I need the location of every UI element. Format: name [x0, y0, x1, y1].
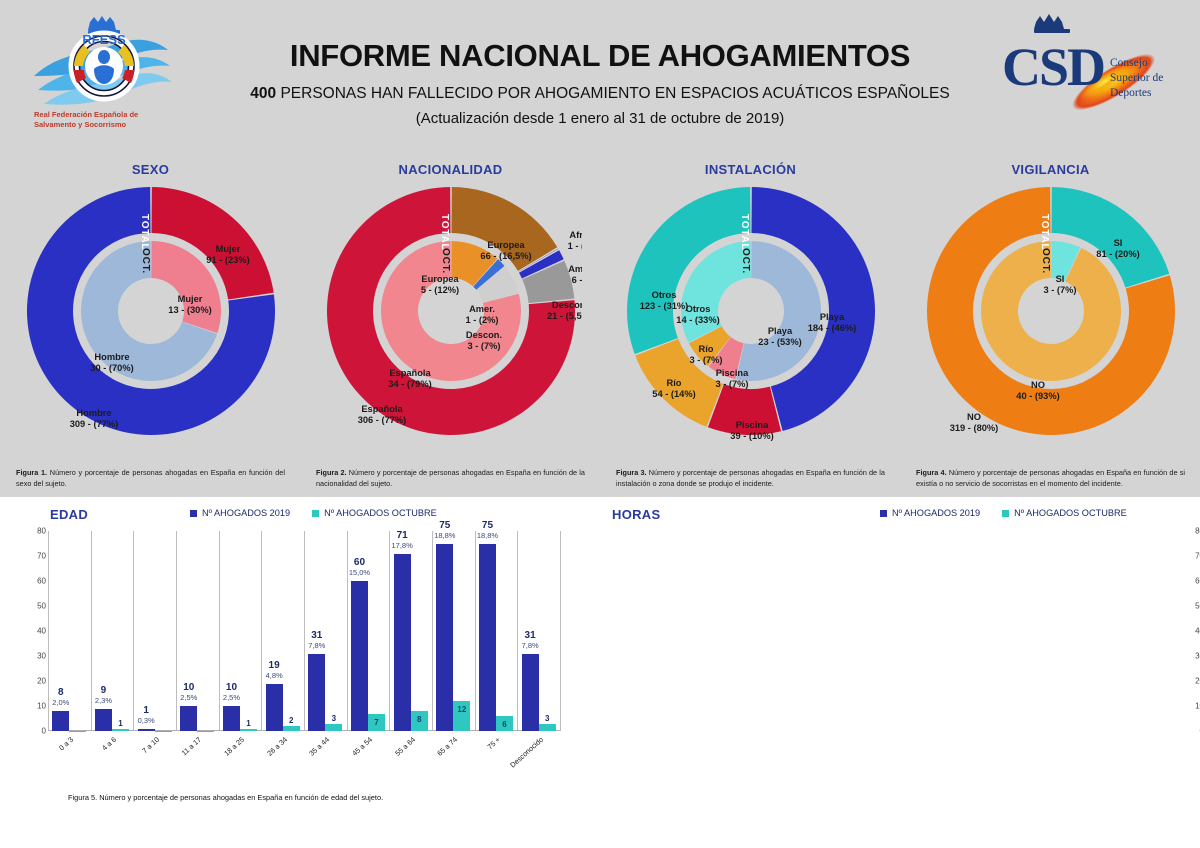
bar-charts-band: EDAD Nº AHOGADOS 2019 Nº AHOGADOS OCTUBR… — [0, 497, 1200, 848]
y-axis-tick: 40 — [37, 627, 46, 636]
bar-group: 10,3%7 a 10 — [133, 531, 176, 731]
x-axis-label: 65 a 74 — [436, 735, 460, 758]
bar-value-percent: 4,8% — [266, 671, 283, 681]
y-axis-tick: 0 — [42, 727, 46, 736]
x-axis-label: 55 a 64 — [393, 735, 417, 758]
donut-slice-label-outer: Española306 - (77%) — [357, 404, 406, 425]
bar-octubre — [539, 724, 556, 732]
figure-caption: Figura 1. Número y porcentaje de persona… — [16, 468, 285, 489]
bar-octubre-label: 3 — [332, 714, 336, 723]
figure-caption-text: Número y porcentaje de personas ahogadas… — [16, 468, 285, 488]
bar-value-label: 6015,0% — [349, 558, 370, 578]
bar-value-label: 82,0% — [52, 688, 69, 708]
y-axis-tick: 10 — [37, 702, 46, 711]
subtitle-count: 400 — [250, 85, 276, 102]
x-axis-label: 26 a 34 — [265, 735, 289, 758]
gridline — [560, 531, 561, 731]
chart-title-edad: EDAD — [50, 507, 88, 522]
bar-octubre-label: 1 — [246, 719, 250, 728]
x-axis-label: 11 a 17 — [180, 735, 203, 757]
donut-chart: TOTALOCT.SI81 - (20%)NO319 - (80%)SI3 - … — [920, 180, 1182, 442]
bar-2019 — [223, 706, 240, 731]
chart-panel-edad: EDAD Nº AHOGADOS 2019 Nº AHOGADOS OCTUBR… — [0, 497, 590, 848]
bar-group: 6015,0%745 a 54 — [347, 531, 390, 731]
bar-value-percent: 17,8% — [391, 541, 412, 551]
plot-area-edad: 0102030405060708082,0%0 a 392,3%14 a 610… — [48, 531, 560, 731]
bar-2019 — [522, 654, 539, 732]
legend-label-octubre: Nº AHOGADOS OCTUBRE — [1014, 508, 1127, 518]
bar-value-percent: 2,3% — [95, 696, 112, 706]
y-axis-tick: 20 — [37, 677, 46, 686]
donut-chart: TOTALOCT.Mujer91 - (23%)Hombre309 - (77%… — [20, 180, 282, 442]
bar-octubre — [155, 731, 172, 732]
donut-chart: TOTALOCT.Europea66 - (16,5%)Africana1 - … — [320, 180, 582, 442]
page-title: INFORME NACIONAL DE AHOGAMIENTOS — [200, 38, 1000, 74]
bar-value-percent: 18,8% — [434, 531, 455, 541]
figure-caption: Figura 2. Número y porcentaje de persona… — [316, 468, 585, 489]
figure-caption: Figura 3. Número y porcentaje de persona… — [616, 468, 885, 489]
bar-value-number: 1 — [138, 706, 155, 716]
y-axis-tick: 70 — [37, 552, 46, 561]
bar-value-label: 317,8% — [522, 631, 539, 651]
figure-caption-label: Figura 3. — [616, 468, 647, 477]
legend-swatch-2019 — [880, 510, 887, 517]
legend-label-2019: Nº AHOGADOS 2019 — [202, 508, 290, 518]
x-axis-label: 45 a 54 — [350, 735, 374, 758]
y-axis-tick: 80 — [1195, 527, 1200, 536]
bar-value-number: 75 — [477, 521, 498, 531]
chart-title-horas: HORAS — [612, 507, 660, 522]
rfess-logo-mark: RFESS — [28, 14, 188, 114]
bar-group: 7518,8%675 + — [475, 531, 518, 731]
bar-group: 317,8%335 a 44 — [304, 531, 347, 731]
x-axis-label: Desconocido — [508, 735, 545, 769]
bar-value-label: 194,8% — [266, 661, 283, 681]
donut-panel-vigilancia: VIGILANCIATOTALOCT.SI81 - (20%)NO319 - (… — [902, 152, 1199, 497]
y-axis-tick: 30 — [37, 652, 46, 661]
bar-group: 7518,8%1265 a 74 — [432, 531, 475, 731]
bar-2019 — [266, 684, 283, 732]
legend-edad: Nº AHOGADOS 2019 Nº AHOGADOS OCTUBRE — [190, 508, 437, 518]
y-axis: 01020304050607080 — [1180, 531, 1200, 731]
svg-text:RFESS: RFESS — [82, 32, 126, 47]
subtitle: 400 PERSONAS HAN FALLECIDO POR AHOGAMIEN… — [200, 85, 1000, 103]
ring-label-total: TOTAL — [439, 214, 450, 250]
y-axis-tick: 70 — [1195, 552, 1200, 561]
bar-group: 102,5%11 a 17 — [176, 531, 219, 731]
date-line: (Actualización desde 1 enero al 31 de oc… — [200, 110, 1000, 127]
bar-value-label: 92,3% — [95, 686, 112, 706]
figure-caption-text: Número y porcentaje de personas ahogadas… — [916, 468, 1185, 488]
donut-charts-band: SEXOTOTALOCT.Mujer91 - (23%)Hombre309 - … — [0, 152, 1200, 497]
donut-title: VIGILANCIA — [902, 162, 1199, 177]
donut-slice-label-inner: Hombre30 - (70%) — [90, 352, 133, 373]
ring-label-oct: OCT. — [740, 248, 751, 274]
figure-caption-label: Figura 2. — [316, 468, 347, 477]
x-axis-label: 7 a 10 — [140, 735, 161, 755]
donut-panel-sexo: SEXOTOTALOCT.Mujer91 - (23%)Hombre309 - … — [2, 152, 299, 497]
bar-octubre — [69, 731, 86, 732]
bar-value-label: 317,8% — [308, 631, 325, 651]
header: RFESS Real Federación Española de Salvam… — [0, 0, 1200, 152]
bar-value-number: 19 — [266, 661, 283, 671]
bar-2019 — [138, 729, 155, 732]
bar-group: 317,8%3Desconocido — [517, 531, 560, 731]
bar-value-percent: 18,8% — [477, 531, 498, 541]
x-axis-label: 4 a 6 — [100, 735, 118, 752]
bar-value-number: 9 — [95, 686, 112, 696]
donut-panel-instalacin: INSTALACIÓNTOTALOCT.Playa184 - (46%)Pisc… — [602, 152, 899, 497]
bar-value-label: 102,5% — [223, 683, 240, 703]
figure-caption: Figura 4. Número y porcentaje de persona… — [916, 468, 1185, 489]
donut-chart: TOTALOCT.Playa184 - (46%)Piscina39 - (10… — [620, 180, 882, 442]
y-axis-tick: 80 — [37, 527, 46, 536]
bar-value-label: 10,3% — [138, 706, 155, 726]
donut-hub — [1029, 289, 1073, 333]
donut-slice-label-inner: Española34 - (79%) — [388, 368, 431, 389]
donut-slice-label-outer: Descon.21 - (5,5%) — [547, 300, 582, 321]
bar-value-number: 75 — [434, 521, 455, 531]
bar-octubre — [112, 729, 129, 732]
x-axis-label: 75 + — [485, 735, 502, 751]
legend-horas: Nº AHOGADOS 2019 Nº AHOGADOS OCTUBRE — [880, 508, 1127, 518]
y-axis: 01020304050607080 — [22, 531, 46, 731]
ring-label-total: TOTAL — [139, 214, 150, 250]
x-axis-label: 35 a 44 — [308, 735, 332, 758]
bar-value-label: 7518,8% — [477, 521, 498, 541]
y-axis-tick: 60 — [37, 577, 46, 586]
donut-title: INSTALACIÓN — [602, 162, 899, 177]
y-axis-tick: 50 — [1195, 602, 1200, 611]
crown-icon — [1030, 14, 1078, 38]
x-axis-label: 0 a 3 — [57, 735, 75, 752]
bar-octubre — [283, 726, 300, 731]
legend-item-2019: Nº AHOGADOS 2019 — [190, 508, 290, 518]
ring-label-total: TOTAL — [739, 214, 750, 250]
legend-item-octubre: Nº AHOGADOS OCTUBRE — [312, 508, 437, 518]
bar-value-percent: 2,0% — [52, 698, 69, 708]
bar-value-percent: 7,8% — [308, 641, 325, 651]
figure-caption-5: Figura 5. Número y porcentaje de persona… — [68, 793, 383, 802]
bar-value-number: 8 — [52, 688, 69, 698]
bar-octubre-label: 1 — [118, 719, 122, 728]
bar-octubre — [240, 729, 257, 732]
rfess-logo: RFESS Real Federación Española de Salvam… — [28, 14, 188, 154]
ring-label-oct: OCT. — [440, 248, 451, 274]
donut-slice-label-inner: Piscina3 - (7%) — [715, 368, 749, 389]
legend-label-2019: Nº AHOGADOS 2019 — [892, 508, 980, 518]
bar-2019 — [308, 654, 325, 732]
donut-hub — [729, 289, 773, 333]
bar-group: 92,3%14 a 6 — [91, 531, 134, 731]
bar-value-number: 31 — [308, 631, 325, 641]
donut-slice-label-outer: Europea66 - (16,5%) — [480, 240, 531, 261]
bar-2019 — [95, 709, 112, 732]
bar-2019 — [436, 544, 453, 732]
bar-2019 — [351, 581, 368, 731]
legend-item-2019: Nº AHOGADOS 2019 — [880, 508, 980, 518]
bar-value-label: 7518,8% — [434, 521, 455, 541]
rfess-logo-caption: Real Federación Española de Salvamento y… — [34, 110, 174, 130]
bar-value-percent: 0,3% — [138, 716, 155, 726]
donut-hub — [429, 289, 473, 333]
bar-value-number: 71 — [391, 531, 412, 541]
bar-value-number: 60 — [349, 558, 370, 568]
bar-2019 — [394, 554, 411, 732]
ring-label-oct: OCT. — [1040, 248, 1051, 274]
bar-octubre-label: 3 — [545, 714, 549, 723]
bar-octubre — [197, 731, 214, 732]
bar-octubre-label: 12 — [457, 705, 466, 714]
y-axis-tick: 50 — [37, 602, 46, 611]
legend-swatch-octubre — [1002, 510, 1009, 517]
bar-octubre-label: 2 — [289, 716, 293, 725]
legend-swatch-2019 — [190, 510, 197, 517]
bar-value-percent: 2,5% — [223, 693, 240, 703]
bar-group: 102,5%118 a 25 — [219, 531, 262, 731]
figure-caption-text: Número y porcentaje de personas ahogadas… — [316, 468, 585, 488]
y-axis-tick: 20 — [1195, 677, 1200, 686]
chart-panel-horas: HORAS Nº AHOGADOS 2019 Nº AHOGADOS OCTUB… — [590, 497, 1200, 848]
donut-panel-nacionalidad: NACIONALIDADTOTALOCT.Europea66 - (16,5%)… — [302, 152, 599, 497]
bar-octubre — [325, 724, 342, 732]
bar-octubre-label: 6 — [502, 720, 506, 729]
figure-caption-label: Figura 4. — [916, 468, 947, 477]
csd-logo: CSD Consejo Superior de Deportes — [992, 14, 1182, 132]
y-axis-tick: 40 — [1195, 627, 1200, 636]
donut-slice-label-inner: Descon.3 - (7%) — [465, 330, 501, 351]
bar-group: 82,0%0 a 3 — [48, 531, 91, 731]
y-axis-tick: 60 — [1195, 577, 1200, 586]
bar-2019 — [479, 544, 496, 732]
csd-letters: CSD — [1002, 36, 1104, 98]
donut-slice-label-outer: Africana1 - (0,5%) — [567, 230, 581, 251]
title-block: INFORME NACIONAL DE AHOGAMIENTOS 400 PER… — [200, 38, 1000, 127]
bar-group: 194,8%226 a 34 — [261, 531, 304, 731]
bar-octubre-label: 8 — [417, 715, 421, 724]
bar-value-percent: 7,8% — [522, 641, 539, 651]
bar-value-number: 31 — [522, 631, 539, 641]
donut-title: SEXO — [2, 162, 299, 177]
subtitle-text: PERSONAS HAN FALLECIDO POR AHOGAMIENTO E… — [276, 85, 950, 102]
y-axis-tick: 10 — [1195, 702, 1200, 711]
bar-value-label: 7117,8% — [391, 531, 412, 551]
donut-slice-label-inner: Europea5 - (12%) — [420, 274, 459, 295]
bar-value-number: 10 — [180, 683, 197, 693]
figure-caption-label: Figura 1. — [16, 468, 47, 477]
bar-group: 7117,8%855 a 64 — [389, 531, 432, 731]
figure-caption-text: Número y porcentaje de personas ahogadas… — [616, 468, 885, 488]
donut-title: NACIONALIDAD — [302, 162, 599, 177]
donut-slice-label-inner: NO40 - (93%) — [1016, 380, 1059, 401]
bar-2019 — [180, 706, 197, 731]
legend-swatch-octubre — [312, 510, 319, 517]
donut-hub — [129, 289, 173, 333]
bar-value-label: 102,5% — [180, 683, 197, 703]
bar-value-percent: 15,0% — [349, 568, 370, 578]
ring-label-oct: OCT. — [140, 248, 151, 274]
bar-value-number: 10 — [223, 683, 240, 693]
donut-slice-label-inner: Amer.1 - (2%) — [465, 304, 498, 325]
csd-org-name: Consejo Superior de Deportes — [1110, 56, 1190, 101]
legend-label-octubre: Nº AHOGADOS OCTUBRE — [324, 508, 437, 518]
donut-slice-label-outer: Piscina39 - (10%) — [730, 420, 773, 441]
ring-label-total: TOTAL — [1039, 214, 1050, 250]
bar-2019 — [52, 711, 69, 731]
bar-value-percent: 2,5% — [180, 693, 197, 703]
donut-slice-label-outer: Hombre309 - (77%) — [69, 408, 118, 429]
x-axis-label: 18 a 25 — [222, 735, 246, 758]
bar-octubre-label: 7 — [374, 718, 378, 727]
legend-item-octubre: Nº AHOGADOS OCTUBRE — [1002, 508, 1127, 518]
donut-slice-outer — [1051, 187, 1169, 288]
y-axis-tick: 30 — [1195, 652, 1200, 661]
